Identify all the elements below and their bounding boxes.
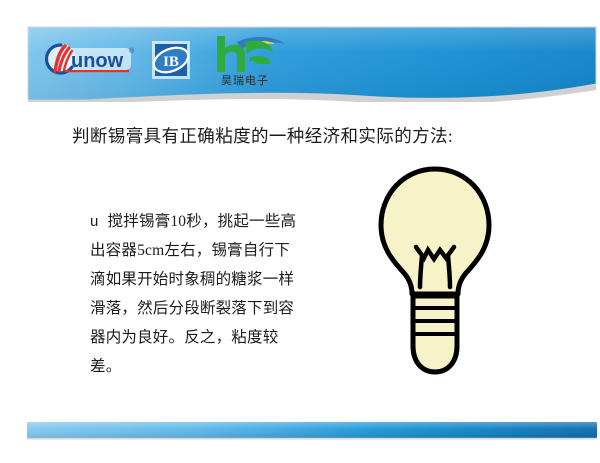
hr-logo-caption: 昊瑞电子 — [221, 73, 269, 87]
ib-wordmark: IB — [163, 54, 179, 70]
page-title: 判断锡膏具有正确粘度的一种经济和实际的方法: — [72, 124, 542, 148]
logo-row: unow ® IB — [45, 31, 289, 89]
body-line: u搅拌锡膏10秒，挑起一些高 — [90, 207, 340, 236]
body-line-text: 差。 — [90, 358, 121, 375]
body-text-block: u搅拌锡膏10秒，挑起一些高 出容器5cm左右，锡膏自行下 滴如果开始时象稠的糖… — [90, 207, 340, 381]
body-line-text: 出容器5cm左右，锡膏自行下 — [90, 242, 290, 259]
body-line: 滑落，然后分段断裂落下到容 — [90, 294, 340, 323]
body-line: 滴如果开始时象稠的糖浆一样 — [90, 265, 340, 294]
body-line-text: 滑落，然后分段断裂落下到容 — [90, 300, 294, 317]
body-line: 出容器5cm左右，锡膏自行下 — [90, 236, 340, 265]
ib-oval-logo: IB — [149, 38, 193, 82]
bottom-accent-bar — [27, 422, 597, 440]
body-line-text: 搅拌锡膏10秒，挑起一些高 — [108, 213, 297, 230]
light-bulb-illustration — [372, 163, 498, 385]
sunow-wordmark: unow — [71, 50, 124, 72]
slide-canvas: unow ® IB — [0, 0, 600, 463]
registered-mark-icon: ® — [129, 47, 135, 55]
body-line: 差。 — [90, 352, 340, 381]
hr-green-logo: 昊瑞电子 — [201, 32, 289, 88]
body-line-text: 器内为良好。反之，粘度较 — [90, 329, 278, 346]
sunow-logo: unow ® — [45, 40, 141, 80]
bullet-marker: u — [90, 213, 108, 230]
body-line-text: 滴如果开始时象稠的糖浆一样 — [90, 271, 294, 288]
body-line: 器内为良好。反之，粘度较 — [90, 323, 340, 352]
